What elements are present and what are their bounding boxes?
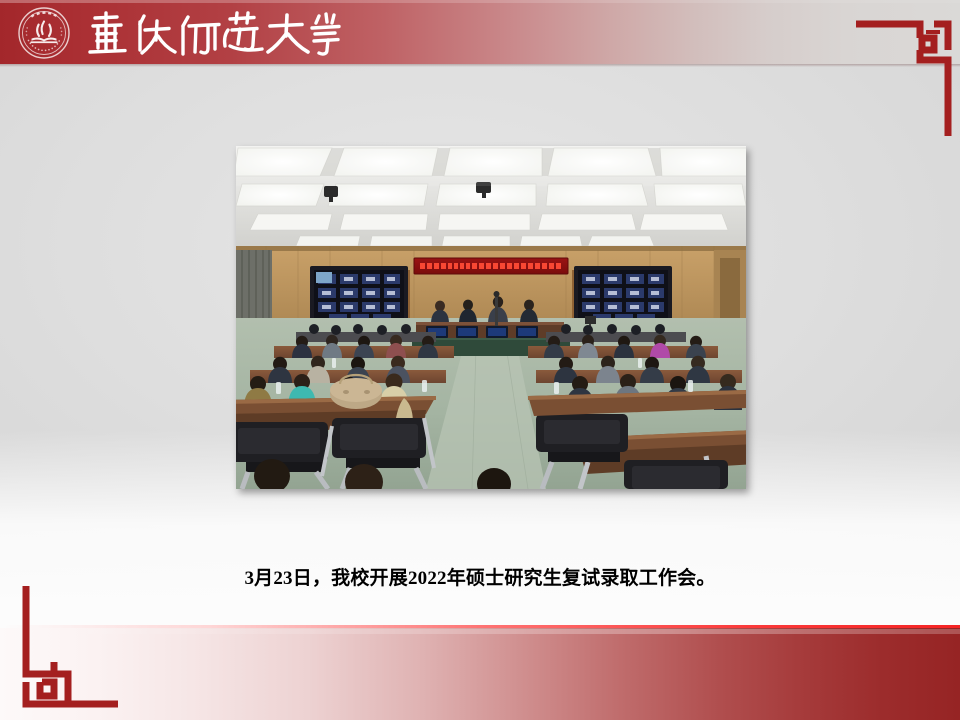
university-seal-logo [18,7,70,59]
chinese-key-corner-icon-bottom-left [14,586,132,712]
conference-photo [236,146,746,489]
header-band-shadow [0,64,960,67]
footer-accent-line [0,625,960,628]
university-name [82,4,342,62]
chinese-key-corner-icon-top-right [856,8,960,136]
footer-highlight [0,629,960,634]
footer-band [0,628,960,720]
header-sheen [0,0,960,3]
photo-caption: 3月23日，我校开展2022年硕士研究生复试录取工作会。 [0,563,960,590]
presentation-slide: 3月23日，我校开展2022年硕士研究生复试录取工作会。 [0,0,960,720]
